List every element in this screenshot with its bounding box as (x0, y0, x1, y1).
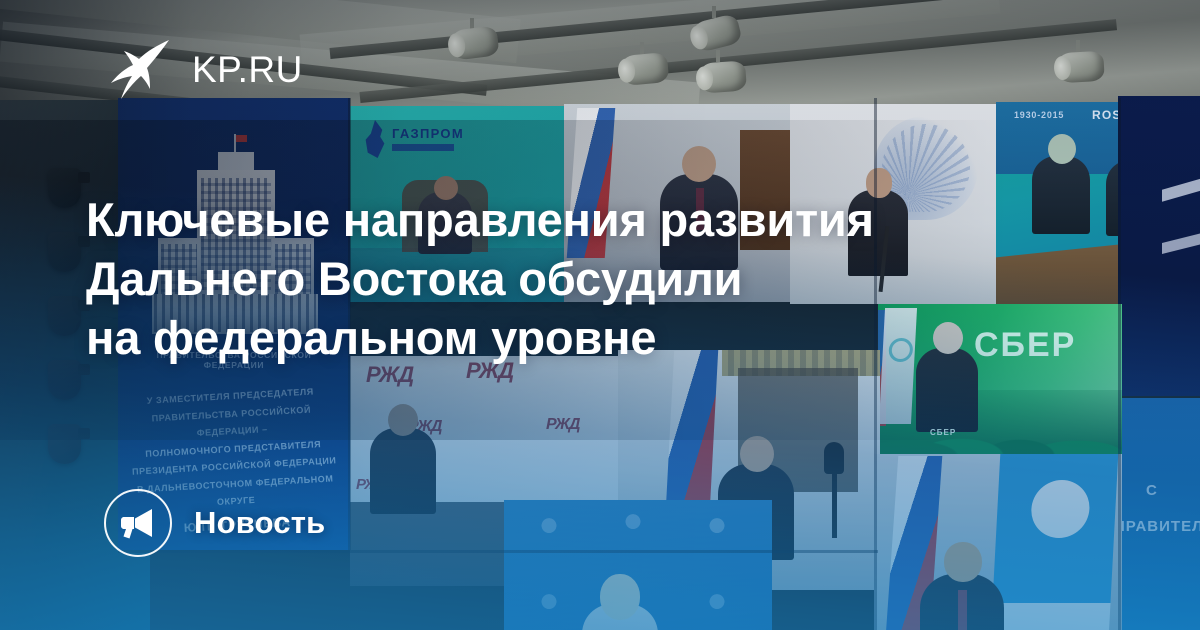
ceiling-spotlight (699, 60, 747, 93)
participant-figure (582, 604, 658, 630)
brand-name: KP.RU (192, 51, 303, 88)
rosneft-sublabel: 1930-2015 (1014, 110, 1064, 120)
ceiling-camera (48, 296, 81, 336)
ceiling-camera (48, 168, 81, 208)
right-panel-label-short: C (1146, 482, 1157, 499)
page-title: Ключевые направления развития Дальнего В… (86, 190, 1096, 368)
status-badge[interactable]: Новость (104, 489, 325, 557)
ceiling-spotlight (621, 52, 669, 86)
tile-sakha-republic (874, 454, 1142, 630)
sber-desk-badge: СБЕР (930, 428, 956, 437)
news-share-card: ПРАВИТЕЛЬСТВА РОССИЙСКОЙ ФЕДЕРАЦИИ У ЗАМ… (0, 0, 1200, 630)
ceiling-camera (48, 360, 81, 400)
participant-figure (920, 574, 1004, 630)
brand-logo[interactable]: KP.RU (106, 38, 303, 100)
right-panel-label: ПРАВИТЕЛЬ (1122, 518, 1200, 535)
russian-flag (666, 350, 719, 511)
ceiling-camera (48, 424, 81, 464)
gazprom-label: ГАЗПРОМ (392, 126, 464, 141)
megaphone-icon (120, 507, 156, 539)
tile-dark-navy-panel (1118, 96, 1200, 396)
ceiling-spotlight (1057, 51, 1105, 83)
tile-ministry-backdrop (504, 500, 772, 630)
participant-figure (370, 428, 436, 514)
badge-circle (104, 489, 172, 557)
tile-right-blue-panel: C ПРАВИТЕЛЬ (1122, 398, 1200, 630)
gazprom-logo-icon: ГАЗПРОМ (362, 120, 454, 160)
swallow-bird-icon (106, 38, 170, 100)
rzd-logo: РЖД (546, 416, 579, 434)
microphone-icon (824, 442, 844, 474)
sakha-flag (988, 454, 1119, 630)
badge-label: Новость (194, 505, 325, 541)
ceiling-camera (48, 232, 81, 272)
